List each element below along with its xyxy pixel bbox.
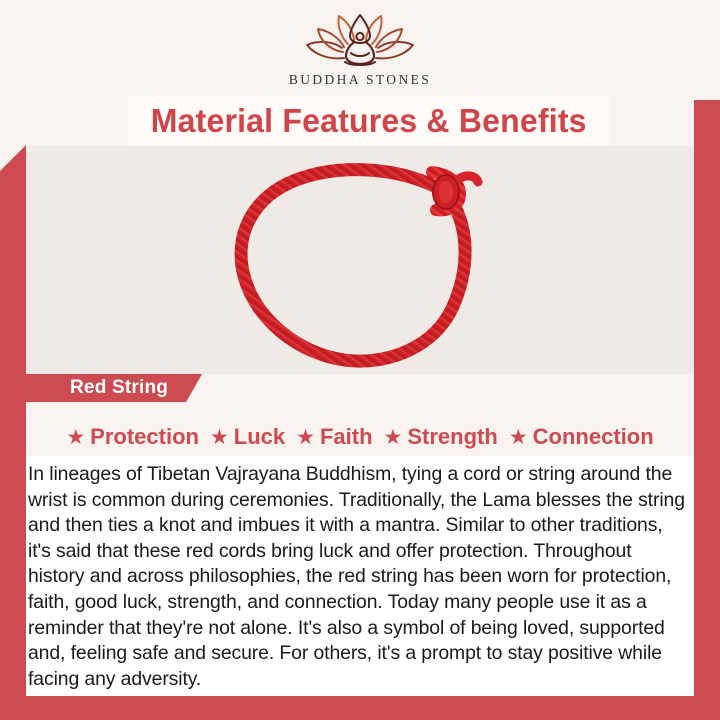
frame-bottom-accent xyxy=(0,696,720,720)
benefit-item-faith: ★ Faith xyxy=(296,424,372,450)
star-icon: ★ xyxy=(384,427,403,448)
title-banner: Material Features & Benefits xyxy=(128,96,610,146)
star-icon: ★ xyxy=(296,427,315,448)
brand-logo: BUDDHA STONES xyxy=(260,12,460,88)
brand-name: BUDDHA STONES xyxy=(260,72,460,88)
description-block: In lineages of Tibetan Vajrayana Buddhis… xyxy=(26,456,694,696)
brand-header: BUDDHA STONES xyxy=(0,0,720,100)
benefit-item-strength: ★ Strength xyxy=(384,424,498,450)
benefit-label: Luck xyxy=(234,424,285,450)
benefit-label: Strength xyxy=(407,424,497,450)
infographic-card: BUDDHA STONES Material Features & Benefi… xyxy=(0,0,720,720)
description-text: In lineages of Tibetan Vajrayana Buddhis… xyxy=(28,462,688,692)
product-name-tag: Red String xyxy=(40,374,202,402)
star-icon: ★ xyxy=(66,427,85,448)
frame-left-accent xyxy=(0,145,26,720)
benefit-label: Protection xyxy=(90,424,199,450)
star-icon: ★ xyxy=(509,427,528,448)
frame-mid-accent xyxy=(0,374,40,402)
product-name-label: Red String xyxy=(70,377,168,399)
product-image-area xyxy=(26,146,694,374)
benefit-item-protection: ★ Protection xyxy=(66,424,199,450)
benefits-row: ★ Protection ★ Luck ★ Faith ★ Strength ★… xyxy=(26,418,694,456)
benefit-item-connection: ★ Connection xyxy=(509,424,654,450)
benefit-label: Connection xyxy=(533,424,654,450)
lotus-meditation-figure-icon xyxy=(304,12,416,70)
red-string-bracelet-image xyxy=(210,152,510,368)
frame-right-accent xyxy=(694,0,720,720)
benefit-label: Faith xyxy=(320,424,373,450)
benefit-item-luck: ★ Luck xyxy=(210,424,285,450)
page-title: Material Features & Benefits xyxy=(151,102,587,140)
star-icon: ★ xyxy=(210,427,229,448)
